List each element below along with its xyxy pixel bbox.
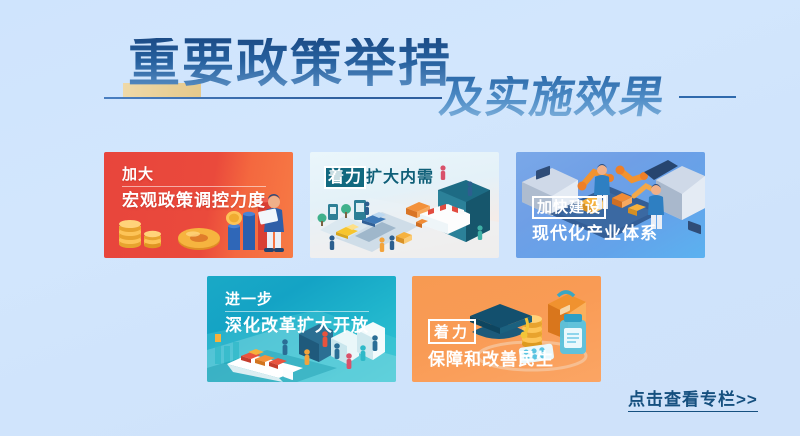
card-reform-opening[interactable]: 进一步 深化改革扩大开放 bbox=[207, 276, 396, 382]
card-domestic-demand-chip: 着力 bbox=[324, 166, 366, 189]
card-modern-industry-line1-wrap: 加快建设 bbox=[532, 196, 658, 219]
card-livelihood[interactable]: 着力 保障和改善民生 bbox=[412, 276, 601, 382]
card-livelihood-line2: 保障和改善民生 bbox=[428, 349, 554, 370]
card-livelihood-chip-wrap: 着力 bbox=[428, 319, 554, 344]
card-livelihood-chip: 着力 bbox=[428, 319, 476, 344]
caption-divider bbox=[122, 186, 266, 187]
card-domestic-demand-line2: 扩大内需 bbox=[366, 169, 434, 186]
page-title-main: 重要政策举措 bbox=[128, 38, 452, 90]
card-macro-policy[interactable]: 加大 宏观政策调控力度 bbox=[104, 152, 293, 258]
card-livelihood-caption: 着力 保障和改善民生 bbox=[428, 319, 554, 370]
card-macro-policy-caption: 加大 宏观政策调控力度 bbox=[122, 165, 266, 211]
poster-header: 重要政策举措 及实施效果 bbox=[0, 0, 800, 140]
card-reform-opening-line1: 进一步 bbox=[225, 290, 369, 309]
card-modern-industry-caption: 加快建设 现代化产业体系 bbox=[532, 196, 658, 244]
card-reform-opening-line2: 深化改革扩大开放 bbox=[225, 315, 369, 336]
card-modern-industry-line2: 现代化产业体系 bbox=[532, 223, 658, 244]
card-domestic-demand[interactable]: 着力扩大内需 bbox=[310, 152, 499, 258]
view-column-link[interactable]: 点击查看专栏>> bbox=[628, 385, 758, 412]
card-modern-industry-line1: 加快建设 bbox=[532, 196, 606, 219]
caption-divider bbox=[225, 311, 369, 312]
card-reform-opening-caption: 进一步 深化改革扩大开放 bbox=[225, 290, 369, 336]
page-title-sub: 及实施效果 bbox=[437, 76, 669, 120]
card-domestic-demand-caption: 着力扩大内需 bbox=[324, 168, 434, 188]
card-macro-policy-line2: 宏观政策调控力度 bbox=[122, 190, 266, 211]
title-rule-right bbox=[679, 96, 736, 98]
card-modern-industry[interactable]: 加快建设 现代化产业体系 bbox=[516, 152, 705, 258]
card-macro-policy-line1: 加大 bbox=[122, 165, 266, 184]
title-rule-left bbox=[104, 97, 442, 99]
poster-canvas: 重要政策举措 及实施效果 bbox=[0, 0, 800, 436]
